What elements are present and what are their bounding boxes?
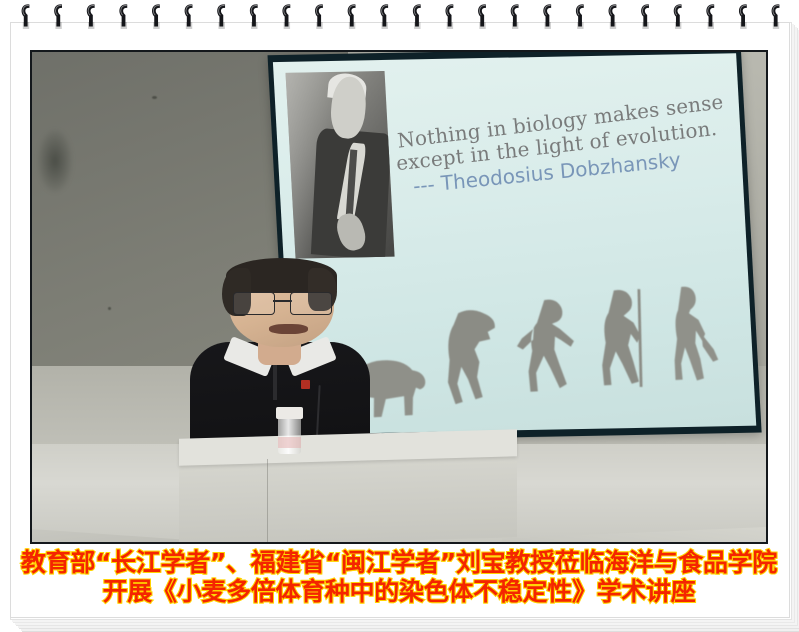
caption-line-1: 教育部“长江学者”、福建省“闽江学者”刘宝教授莅临海洋与食品学院 (18, 548, 780, 577)
desk-left (32, 529, 193, 542)
lecturer-lapel-badge (301, 380, 310, 389)
wall-smudge (38, 130, 72, 192)
figure-early-human (501, 275, 588, 420)
dobzhansky-portrait (285, 71, 395, 259)
podium-front-face (179, 454, 517, 542)
lecturer-placket (273, 360, 277, 401)
desk-right (502, 527, 766, 542)
lecture-photograph: Nothing in biology makes sense except in… (30, 50, 768, 544)
lecturer-mouth (269, 324, 309, 334)
wall-speck (152, 96, 157, 99)
caption: 教育部“长江学者”、福建省“闽江学者”刘宝教授莅临海洋与食品学院 开展《小麦多倍… (18, 548, 780, 606)
spiral-notepad-frame: Nothing in biology makes sense except in… (0, 0, 799, 632)
figure-spear-hunter (574, 265, 661, 416)
water-bottle-label (278, 437, 301, 448)
slide-quote: Nothing in biology makes sense except in… (395, 93, 740, 198)
figure-modern-human (650, 258, 726, 411)
podium-panel-seam (267, 459, 268, 542)
wall-speck (108, 307, 111, 310)
caption-line-2: 开展《小麦多倍体育种中的染色体不稳定性》学术讲座 (18, 577, 780, 606)
water-bottle-cap (276, 407, 302, 418)
photo-content: Nothing in biology makes sense except in… (32, 52, 766, 542)
eyeglasses-icon (233, 292, 332, 312)
figure-stooped-hominid (428, 289, 514, 424)
evolution-silhouettes (324, 255, 726, 430)
